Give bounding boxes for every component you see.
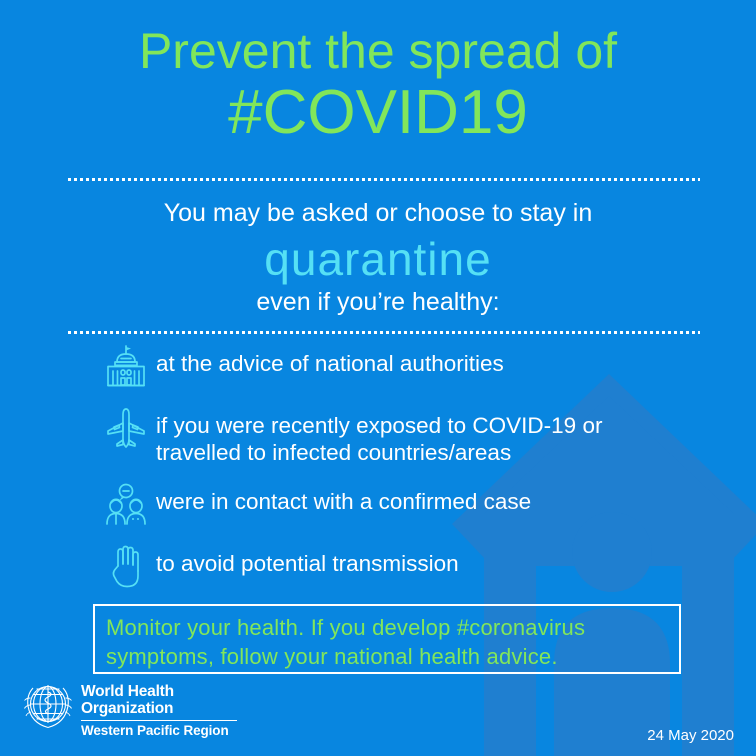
airplane-icon — [100, 405, 152, 451]
list-item: at the advice of national authorities — [100, 343, 706, 391]
government-building-icon — [100, 343, 152, 389]
list-item-label: at the advice of national authorities — [152, 343, 504, 377]
page-title-hashtag: #COVID19 — [0, 84, 756, 143]
who-logo: World Health Organization Western Pacifi… — [22, 682, 237, 738]
who-name-line2: Organization — [81, 701, 237, 718]
who-wordmark: World Health Organization Western Pacifi… — [81, 682, 237, 738]
two-people-talking-icon — [100, 481, 152, 527]
list-item-label: if you were recently exposed to COVID-19… — [152, 405, 602, 467]
subtitle-line2: even if you’re healthy: — [0, 288, 756, 317]
advice-callout-box: Monitor your health. If you develop #cor… — [93, 604, 681, 674]
subtitle-keyword-quarantine: quarantine — [0, 232, 756, 286]
list-item-label: to avoid potential transmission — [152, 543, 459, 577]
list-item-label: were in contact with a confirmed case — [152, 481, 531, 515]
list-item: if you were recently exposed to COVID-19… — [100, 405, 706, 467]
subtitle-line1: You may be asked or choose to stay in — [0, 199, 756, 228]
divider-top — [68, 178, 700, 181]
who-name-line1: World Health — [81, 684, 237, 701]
divider-middle — [68, 331, 700, 334]
list-item: were in contact with a confirmed case — [100, 481, 706, 529]
who-region-label: Western Pacific Region — [81, 723, 237, 738]
page-title-line1: Prevent the spread of — [0, 28, 756, 76]
raised-hand-stop-icon — [100, 543, 152, 589]
who-emblem-icon — [22, 682, 74, 735]
list-item: to avoid potential transmission — [100, 543, 706, 591]
reasons-list: at the advice of national authorities — [100, 343, 706, 605]
date-stamp: 24 May 2020 — [647, 727, 734, 744]
who-rule — [81, 720, 237, 722]
advice-callout-text: Monitor your health. If you develop #cor… — [106, 613, 668, 671]
